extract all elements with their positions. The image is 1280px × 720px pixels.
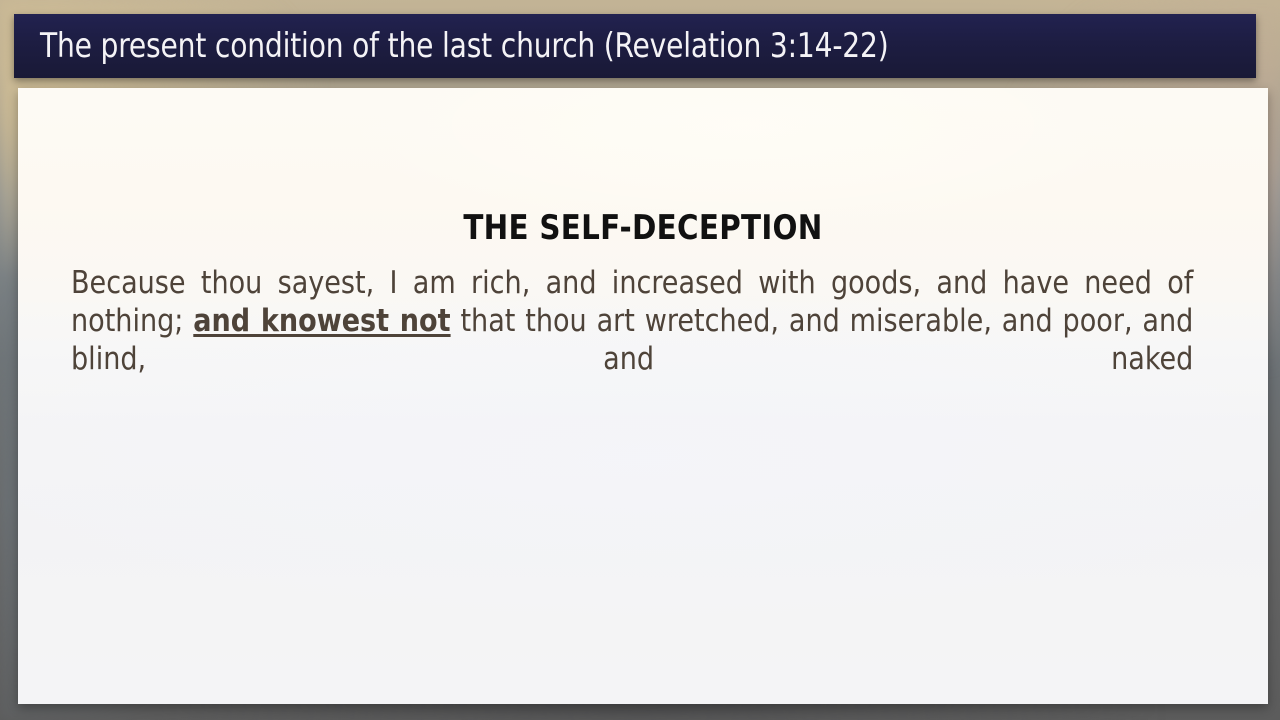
slide-title-bar: The present condition of the last church… (14, 14, 1256, 78)
slide-title: The present condition of the last church… (40, 26, 889, 66)
content-heading: THE SELF-DECEPTION (43, 208, 1243, 248)
slide-root: The present condition of the last church… (0, 0, 1280, 720)
scripture-paragraph: Because thou sayest, I am rich, and incr… (71, 264, 1193, 416)
scripture-emphasis: and knowest not (193, 303, 450, 339)
slide-content-panel: THE SELF-DECEPTION Because thou sayest, … (18, 88, 1268, 704)
